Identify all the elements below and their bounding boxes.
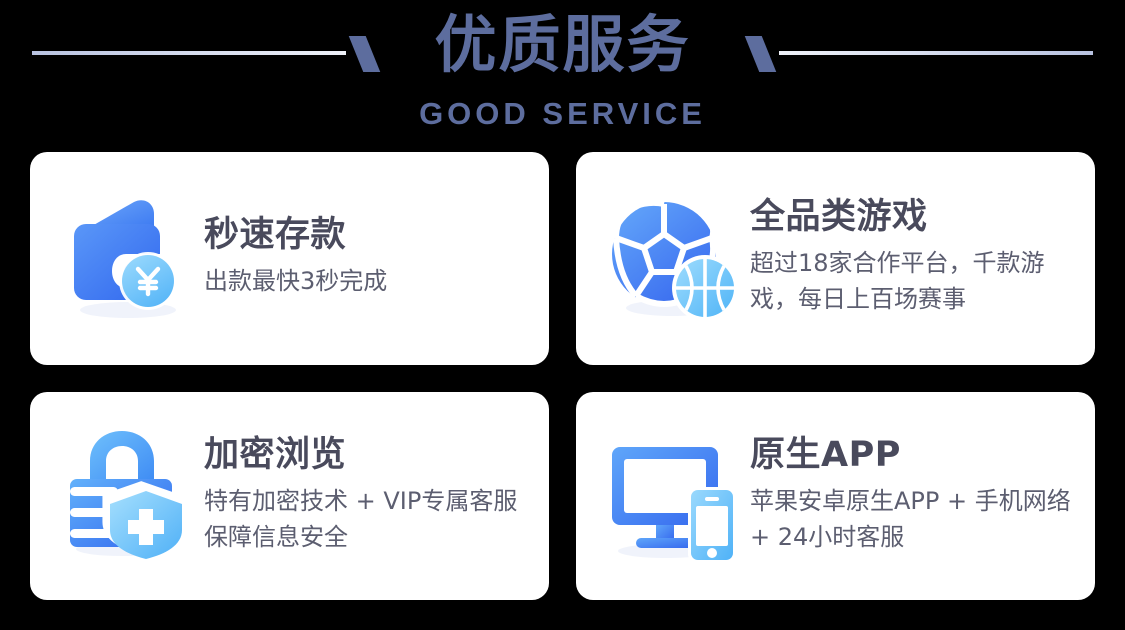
- card-title: 加密浏览: [204, 434, 534, 476]
- card-title: 全品类游戏: [750, 196, 1080, 238]
- card-title: 秒速存款: [204, 214, 387, 256]
- header: 优质服务 GOOD SERVICE: [0, 0, 1125, 148]
- feature-card-native-app[interactable]: 原生APP 苹果安卓原生APP + 手机网络 + 24小时客服: [576, 392, 1095, 600]
- feature-card-games[interactable]: 全品类游戏 超过18家合作平台，千款游戏，每日上百场赛事: [576, 152, 1095, 365]
- monitor-phone-icon: [602, 425, 744, 567]
- card-text: 原生APP 苹果安卓原生APP + 手机网络 + 24小时客服: [744, 434, 1080, 559]
- card-description: 出款最快3秒完成: [204, 263, 387, 299]
- feature-card-deposit[interactable]: 秒速存款 出款最快3秒完成: [30, 152, 549, 365]
- card-text: 全品类游戏 超过18家合作平台，千款游戏，每日上百场赛事: [744, 196, 1080, 321]
- card-description: 苹果安卓原生APP + 手机网络 + 24小时客服: [750, 483, 1080, 555]
- page-title: 优质服务: [0, 4, 1125, 86]
- feature-card-encryption[interactable]: 加密浏览 特有加密技术 + VIP专属客服保障信息安全: [30, 392, 549, 600]
- card-text: 加密浏览 特有加密技术 + VIP专属客服保障信息安全: [198, 434, 534, 559]
- card-description: 超过18家合作平台，千款游戏，每日上百场赛事: [750, 245, 1080, 317]
- lock-shield-icon: [56, 425, 198, 567]
- feature-card-grid: 秒速存款 出款最快3秒完成: [30, 152, 1095, 600]
- card-text: 秒速存款 出款最快3秒完成: [198, 214, 387, 303]
- card-title: 原生APP: [750, 434, 1080, 476]
- promo-banner: 优质服务 GOOD SERVICE: [0, 0, 1125, 630]
- page-subtitle: GOOD SERVICE: [0, 96, 1125, 132]
- card-description: 特有加密技术 + VIP专属客服保障信息安全: [204, 483, 534, 555]
- wallet-yen-icon: [56, 188, 198, 330]
- soccer-basketball-icon: [602, 188, 744, 330]
